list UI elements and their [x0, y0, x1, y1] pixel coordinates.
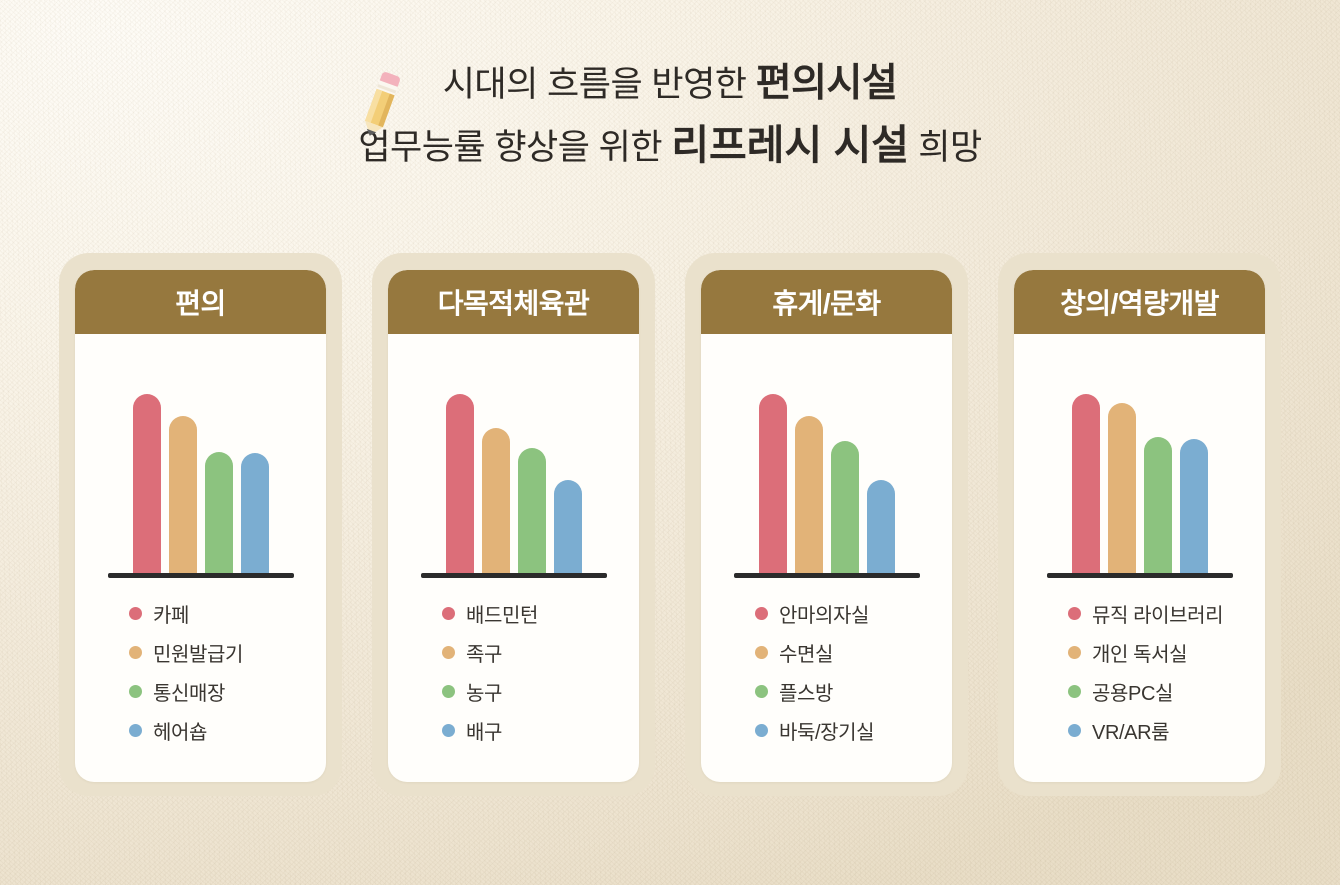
legend-dot-icon: [129, 607, 142, 620]
legend-dot-icon: [755, 724, 768, 737]
bar-3: [867, 480, 895, 574]
legend-item: 헤어숍: [129, 711, 326, 750]
legend-label: 개인 독서실: [1092, 638, 1187, 667]
title-line-2-tail: 희망: [909, 128, 982, 167]
legend-item: 바둑/장기실: [755, 711, 952, 750]
card-title-1: 다목적체육관: [388, 270, 639, 334]
legend-label: 배구: [466, 716, 502, 745]
legend-dot-icon: [755, 607, 768, 620]
bar-chart-0: [75, 362, 326, 588]
pencil-icon: [352, 66, 408, 146]
chart-baseline-3: [1047, 573, 1233, 578]
legend-item: 개인 독서실: [1068, 633, 1265, 672]
legend-label: 족구: [466, 638, 502, 667]
bar-0: [1072, 394, 1100, 574]
legend-label: 카페: [153, 599, 189, 628]
title-line-2-strong: 리프레시 시설: [671, 122, 909, 168]
facility-card-1[interactable]: 다목적체육관 배드민턴족구농구배구: [388, 270, 639, 782]
legend-dot-icon: [442, 607, 455, 620]
legend-dot-icon: [129, 724, 142, 737]
bar-3: [554, 480, 582, 574]
bar-0: [759, 394, 787, 574]
facility-card-frame-3: 창의/역량개발 뮤직 라이브러리개인 독서실공용PC실VR/AR룸: [998, 253, 1281, 796]
legend-label: VR/AR룸: [1092, 716, 1169, 745]
bar-0: [133, 394, 161, 574]
title-line-1-light: 시대의 흐름을 반영한: [443, 65, 756, 104]
chart-baseline-2: [734, 573, 920, 578]
legend-label: 플스방: [779, 677, 833, 706]
bar-3: [1180, 439, 1208, 574]
legend-item: 플스방: [755, 672, 952, 711]
chart-baseline-1: [421, 573, 607, 578]
bar-chart-2: [701, 362, 952, 588]
legend-item: 카페: [129, 594, 326, 633]
legend-item: VR/AR룸: [1068, 711, 1265, 750]
legend-item: 공용PC실: [1068, 672, 1265, 711]
legend-item: 배드민턴: [442, 594, 639, 633]
card-title-3: 창의/역량개발: [1014, 270, 1265, 334]
card-title-0: 편의: [75, 270, 326, 334]
card-body-3: 뮤직 라이브러리개인 독서실공용PC실VR/AR룸: [1014, 334, 1265, 782]
legend-item: 민원발급기: [129, 633, 326, 672]
bar-chart-3: [1014, 362, 1265, 588]
legend-dot-icon: [755, 685, 768, 698]
bar-2: [1144, 437, 1172, 574]
bar-2: [205, 452, 233, 574]
chart-legend-0: 카페민원발급기통신매장헤어숍: [75, 588, 326, 750]
bar-1: [482, 428, 510, 574]
legend-dot-icon: [129, 646, 142, 659]
bar-1: [1108, 403, 1136, 574]
legend-label: 공용PC실: [1092, 677, 1173, 706]
title-line-1-strong: 편의시설: [756, 62, 898, 105]
facility-card-0[interactable]: 편의 카페민원발급기통신매장헤어숍: [75, 270, 326, 782]
chart-baseline-0: [108, 573, 294, 578]
chart-legend-3: 뮤직 라이브러리개인 독서실공용PC실VR/AR룸: [1014, 588, 1265, 750]
legend-dot-icon: [442, 646, 455, 659]
bar-1: [169, 416, 197, 574]
legend-item: 통신매장: [129, 672, 326, 711]
legend-label: 농구: [466, 677, 502, 706]
legend-dot-icon: [1068, 646, 1081, 659]
facility-card-frame-0: 편의 카페민원발급기통신매장헤어숍: [59, 253, 342, 796]
title-line-2: 업무능률 향상을 위한 리프레시 시설 희망: [0, 117, 1340, 176]
legend-label: 바둑/장기실: [779, 716, 874, 745]
legend-item: 농구: [442, 672, 639, 711]
chart-legend-2: 안마의자실수면실플스방바둑/장기실: [701, 588, 952, 750]
legend-item: 배구: [442, 711, 639, 750]
page-title: 시대의 흐름을 반영한 편의시설 업무능률 향상을 위한 리프레시 시설 희망: [0, 58, 1340, 176]
legend-dot-icon: [442, 685, 455, 698]
card-body-0: 카페민원발급기통신매장헤어숍: [75, 334, 326, 782]
bar-chart-1: [388, 362, 639, 588]
bar-0: [446, 394, 474, 574]
card-body-2: 안마의자실수면실플스방바둑/장기실: [701, 334, 952, 782]
bar-group-0: [75, 394, 326, 574]
legend-dot-icon: [129, 685, 142, 698]
legend-label: 민원발급기: [153, 638, 243, 667]
bar-3: [241, 453, 269, 574]
legend-item: 족구: [442, 633, 639, 672]
chart-legend-1: 배드민턴족구농구배구: [388, 588, 639, 750]
facility-card-frame-2: 휴게/문화 안마의자실수면실플스방바둑/장기실: [685, 253, 968, 796]
bar-2: [518, 448, 546, 574]
bar-group-3: [1014, 394, 1265, 574]
facility-card-2[interactable]: 휴게/문화 안마의자실수면실플스방바둑/장기실: [701, 270, 952, 782]
legend-label: 안마의자실: [779, 599, 869, 628]
legend-dot-icon: [755, 646, 768, 659]
legend-item: 안마의자실: [755, 594, 952, 633]
facility-card-3[interactable]: 창의/역량개발 뮤직 라이브러리개인 독서실공용PC실VR/AR룸: [1014, 270, 1265, 782]
legend-dot-icon: [1068, 685, 1081, 698]
card-title-2: 휴게/문화: [701, 270, 952, 334]
legend-label: 배드민턴: [466, 599, 538, 628]
bar-1: [795, 416, 823, 574]
bar-group-2: [701, 394, 952, 574]
legend-item: 수면실: [755, 633, 952, 672]
card-body-1: 배드민턴족구농구배구: [388, 334, 639, 782]
legend-dot-icon: [1068, 607, 1081, 620]
facility-card-row: 편의 카페민원발급기통신매장헤어숍 다목적체육관 배드민턴족구농구배구: [0, 253, 1340, 796]
facility-card-frame-1: 다목적체육관 배드민턴족구농구배구: [372, 253, 655, 796]
legend-label: 수면실: [779, 638, 833, 667]
legend-dot-icon: [442, 724, 455, 737]
legend-label: 헤어숍: [153, 716, 207, 745]
legend-item: 뮤직 라이브러리: [1068, 594, 1265, 633]
bar-group-1: [388, 394, 639, 574]
title-line-1: 시대의 흐름을 반영한 편의시설: [0, 58, 1340, 111]
legend-label: 통신매장: [153, 677, 225, 706]
legend-label: 뮤직 라이브러리: [1092, 599, 1223, 628]
legend-dot-icon: [1068, 724, 1081, 737]
bar-2: [831, 441, 859, 574]
